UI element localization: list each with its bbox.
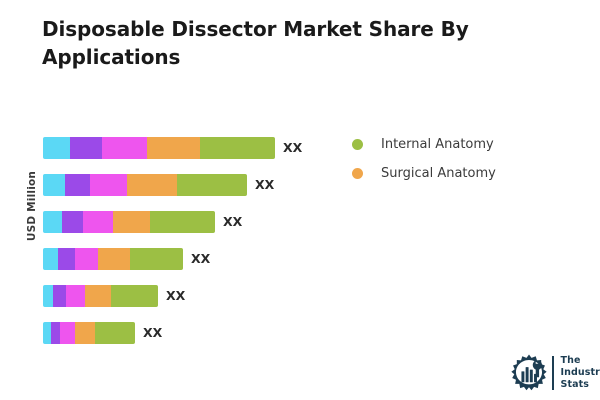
bar-value-label: XX (166, 285, 185, 307)
bar-row: XX (43, 211, 242, 233)
bar-segment (43, 137, 70, 159)
bar-segment (60, 322, 75, 344)
stacked-bar (43, 285, 158, 307)
legend-label: Internal Anatomy (381, 137, 494, 152)
bar-row: XX (43, 248, 210, 270)
bar-value-label: XX (191, 248, 210, 270)
plot-area: XXXXXXXXXXXX (43, 131, 343, 353)
bar-segment (95, 322, 135, 344)
legend-item[interactable]: Surgical Anatomy (352, 159, 572, 188)
industry-gear-icon (508, 352, 550, 394)
bar-segment (200, 137, 275, 159)
bar-segment (83, 211, 113, 233)
bar-segment (43, 211, 62, 233)
brand-name: The Industry Stats (561, 355, 600, 391)
bar-segment (70, 137, 102, 159)
bar-segment (177, 174, 247, 196)
bar-segment (85, 285, 111, 307)
chart-legend: Internal AnatomySurgical Anatomy (352, 130, 572, 188)
bar-segment (43, 248, 58, 270)
bar-segment (66, 285, 85, 307)
bar-segment (75, 322, 95, 344)
brand-line-1: The (561, 355, 600, 367)
bar-segment (130, 248, 183, 270)
bar-segment (111, 285, 158, 307)
bar-segment (53, 285, 66, 307)
brand-line-3: Stats (561, 379, 600, 391)
stacked-bar (43, 322, 135, 344)
brand-line-2: Industry (561, 367, 600, 379)
bar-row: XX (43, 285, 185, 307)
bar-row: XX (43, 137, 302, 159)
stacked-bar (43, 137, 275, 159)
legend-color-dot-icon (352, 139, 363, 150)
bar-segment (43, 322, 51, 344)
bar-row: XX (43, 174, 274, 196)
bar-segment (147, 137, 200, 159)
brand-divider (552, 356, 554, 390)
y-axis-label: USD Million (26, 146, 38, 266)
bar-value-label: XX (283, 137, 302, 159)
bar-segment (102, 137, 147, 159)
bar-segment (150, 211, 215, 233)
stacked-bar (43, 248, 183, 270)
bar-segment (65, 174, 90, 196)
bar-segment (43, 285, 53, 307)
bar-segment (43, 174, 65, 196)
bar-segment (62, 211, 83, 233)
bar-segment (58, 248, 75, 270)
bar-value-label: XX (255, 174, 274, 196)
legend-label: Surgical Anatomy (381, 166, 496, 181)
bar-segment (51, 322, 60, 344)
chart-title: Disposable Dissector Market Share By App… (42, 16, 542, 71)
bar-segment (75, 248, 98, 270)
stacked-bar (43, 174, 247, 196)
bar-value-label: XX (223, 211, 242, 233)
legend-item[interactable]: Internal Anatomy (352, 130, 572, 159)
legend-color-dot-icon (352, 168, 363, 179)
bar-segment (127, 174, 177, 196)
stacked-bar (43, 211, 215, 233)
bar-segment (113, 211, 150, 233)
bar-row: XX (43, 322, 162, 344)
chart-container: Disposable Dissector Market Share By App… (0, 0, 600, 400)
bar-segment (98, 248, 130, 270)
brand-logo: The Industry Stats (508, 352, 600, 394)
bar-segment (90, 174, 127, 196)
bar-value-label: XX (143, 322, 162, 344)
